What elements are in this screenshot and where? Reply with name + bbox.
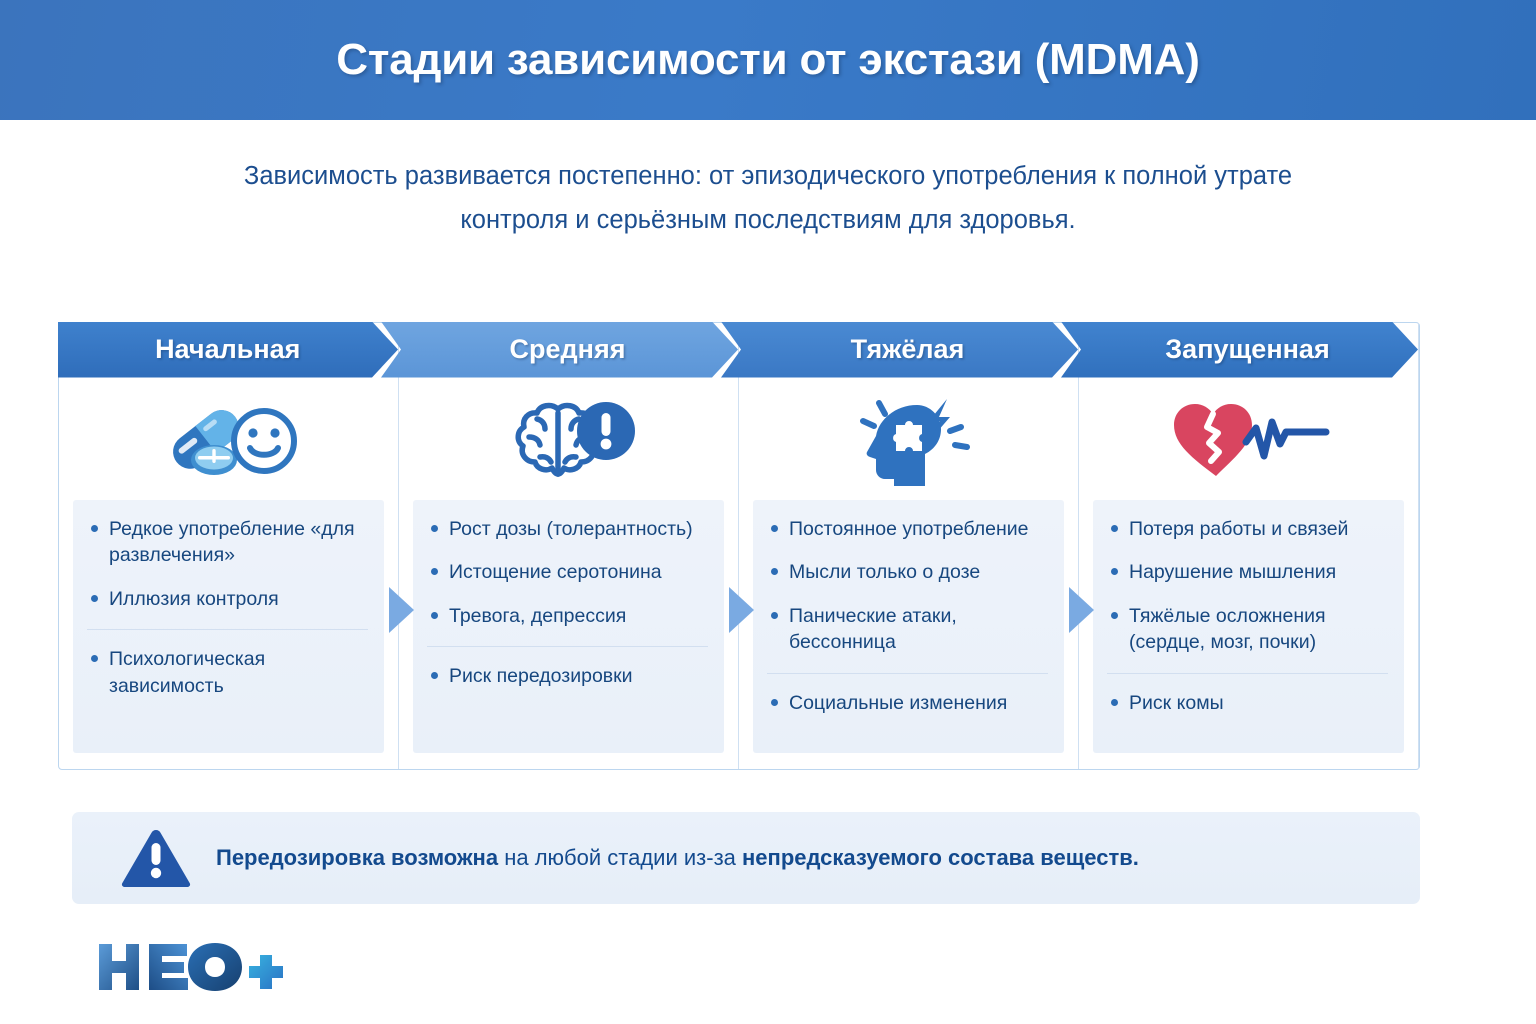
stage-header-2[interactable]: Средняя <box>381 322 738 378</box>
stage-connector-2-3 <box>729 587 754 633</box>
stage-card-3[interactable]: Тяжёлая Постоянное употребление Мысли то… <box>739 323 1079 769</box>
list-item: Мысли только о дозе <box>767 559 1048 586</box>
list-item: Нарушение мышления <box>1107 559 1388 586</box>
list-item: Потеря работы и связей <box>1107 516 1388 543</box>
broken-heart-ecg-icon <box>1166 394 1331 484</box>
stage-header-1[interactable]: Начальная <box>58 322 399 378</box>
stage-card-1[interactable]: Начальная Редкое <box>59 323 399 769</box>
list-item: Иллюзия контроля <box>87 586 368 613</box>
title-banner: Стадии зависимости от экстази (MDMA) <box>0 0 1536 120</box>
subtitle-line-1: Зависимость развивается постепенно: от э… <box>244 162 1292 190</box>
warning-text: Передозировка возможна на любой стадии и… <box>216 845 1139 871</box>
heo-plus-logo-icon <box>95 938 285 996</box>
stage-card-4[interactable]: Запущенная Потеря работы и связей Наруше… <box>1079 323 1419 769</box>
stages-board: Начальная Редкое <box>58 322 1420 770</box>
list-item: Редкое употребление «для развлечения» <box>87 516 368 569</box>
list-item: Истощение серотонина <box>427 559 708 586</box>
warning-bold-end: непредсказуемого состава веществ. <box>742 845 1139 870</box>
list-item: Тревога, депрессия <box>427 603 708 630</box>
page-title: Стадии зависимости от экстази (MDMA) <box>336 35 1199 85</box>
pills-smiley-icon <box>154 394 304 484</box>
stage-bullets-1: Редкое употребление «для развлечения» Ил… <box>73 500 384 754</box>
head-puzzle-lightning-icon <box>839 391 979 486</box>
brand-logo[interactable] <box>95 938 285 996</box>
list-item: Постоянное употребление <box>767 516 1048 543</box>
warning-bold-start: Передозировка возможна <box>216 845 498 870</box>
stage-bullets-4: Потеря работы и связей Нарушение мышлени… <box>1093 500 1404 754</box>
list-item: Риск комы <box>1107 673 1388 717</box>
brain-alert-icon <box>496 393 641 485</box>
stage-bullets-3: Постоянное употребление Мысли только о д… <box>753 500 1064 754</box>
warning-banner: Передозировка возможна на любой стадии и… <box>72 812 1420 904</box>
subtitle-line-2: контроля и серьёзным последствиям для зд… <box>460 206 1075 234</box>
stage-label-4: Запущенная <box>1165 334 1329 365</box>
stage-label-1: Начальная <box>155 334 300 365</box>
list-item: Риск передозировки <box>427 646 708 690</box>
stage-label-3: Тяжёлая <box>851 334 965 365</box>
stage-card-2[interactable]: Средняя Рост дозы (толерантность) Истоще… <box>399 323 739 769</box>
stage-icon-zone-1 <box>59 378 398 500</box>
stage-label-2: Средняя <box>510 334 626 365</box>
list-item: Тяжёлые осложнения (сердце, мозг, почки) <box>1107 603 1388 656</box>
stage-icon-zone-3 <box>739 378 1078 500</box>
list-item: Психологическая зависимость <box>87 629 368 699</box>
stage-header-4[interactable]: Запущенная <box>1061 322 1418 378</box>
warning-triangle-icon <box>120 827 192 889</box>
stage-header-3[interactable]: Тяжёлая <box>721 322 1078 378</box>
stage-connector-1-2 <box>389 587 414 633</box>
subtitle-block: Зависимость развивается постепенно: от э… <box>160 155 1376 243</box>
stage-bullets-2: Рост дозы (толерантность) Истощение серо… <box>413 500 724 754</box>
stage-icon-zone-2 <box>399 378 738 500</box>
warning-normal-middle: на любой стадии из-за <box>498 845 742 870</box>
list-item: Рост дозы (толерантность) <box>427 516 708 543</box>
stage-connector-3-4 <box>1069 587 1094 633</box>
stage-icon-zone-4 <box>1079 378 1418 500</box>
list-item: Социальные изменения <box>767 673 1048 717</box>
list-item: Панические атаки, бессонница <box>767 603 1048 656</box>
